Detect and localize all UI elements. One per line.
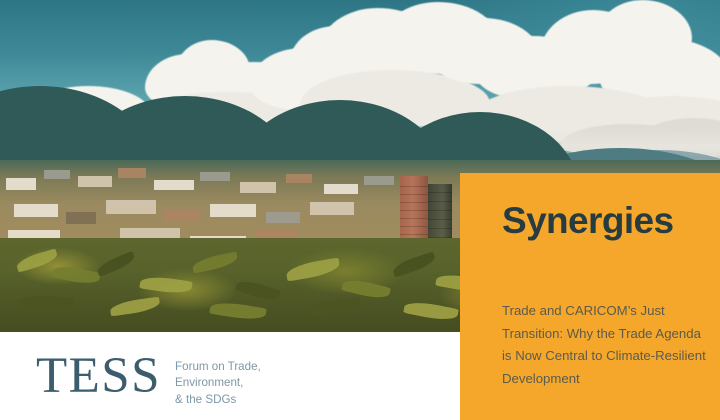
palm-frond: [139, 274, 192, 295]
palm-frond: [309, 297, 360, 316]
building: [66, 212, 96, 224]
palm-frond: [235, 278, 281, 304]
page-title: Synergies: [502, 202, 673, 239]
building: [286, 174, 312, 183]
building: [14, 204, 58, 217]
building: [6, 178, 36, 190]
building: [310, 202, 354, 215]
palm-frond: [51, 263, 101, 287]
footer-bar: TESS Forum on Trade, Environment, & the …: [0, 332, 460, 420]
building: [240, 182, 276, 193]
article-subtitle: Trade and CARICOM’s Just Transition: Why…: [502, 300, 712, 390]
logo-wordmark: TESS: [36, 350, 161, 402]
palm-frond: [191, 251, 239, 273]
building: [44, 170, 70, 179]
building: [106, 200, 156, 214]
building: [78, 176, 112, 187]
tess-logo[interactable]: TESS Forum on Trade, Environment, & the …: [36, 350, 261, 408]
building: [364, 176, 394, 185]
highrise-tower-dark: [428, 184, 452, 246]
palm-frond: [19, 293, 74, 313]
building: [118, 168, 146, 178]
palm-frond: [285, 257, 341, 281]
building: [324, 184, 358, 194]
palm-frond: [209, 300, 267, 323]
title-panel: Synergies Trade and CARICOM’s Just Trans…: [460, 173, 720, 420]
highrise-tower: [400, 176, 428, 246]
building: [266, 212, 300, 223]
palm-frond: [403, 299, 459, 323]
building: [210, 204, 256, 217]
building: [200, 172, 230, 181]
slide-canvas: Synergies Trade and CARICOM’s Just Trans…: [0, 0, 720, 420]
palm-frond: [391, 252, 437, 278]
building: [154, 180, 194, 190]
building: [164, 210, 200, 221]
palm-frond: [109, 297, 160, 317]
palm-frond: [95, 251, 137, 277]
logo-tagline: Forum on Trade, Environment, & the SDGs: [175, 359, 261, 408]
